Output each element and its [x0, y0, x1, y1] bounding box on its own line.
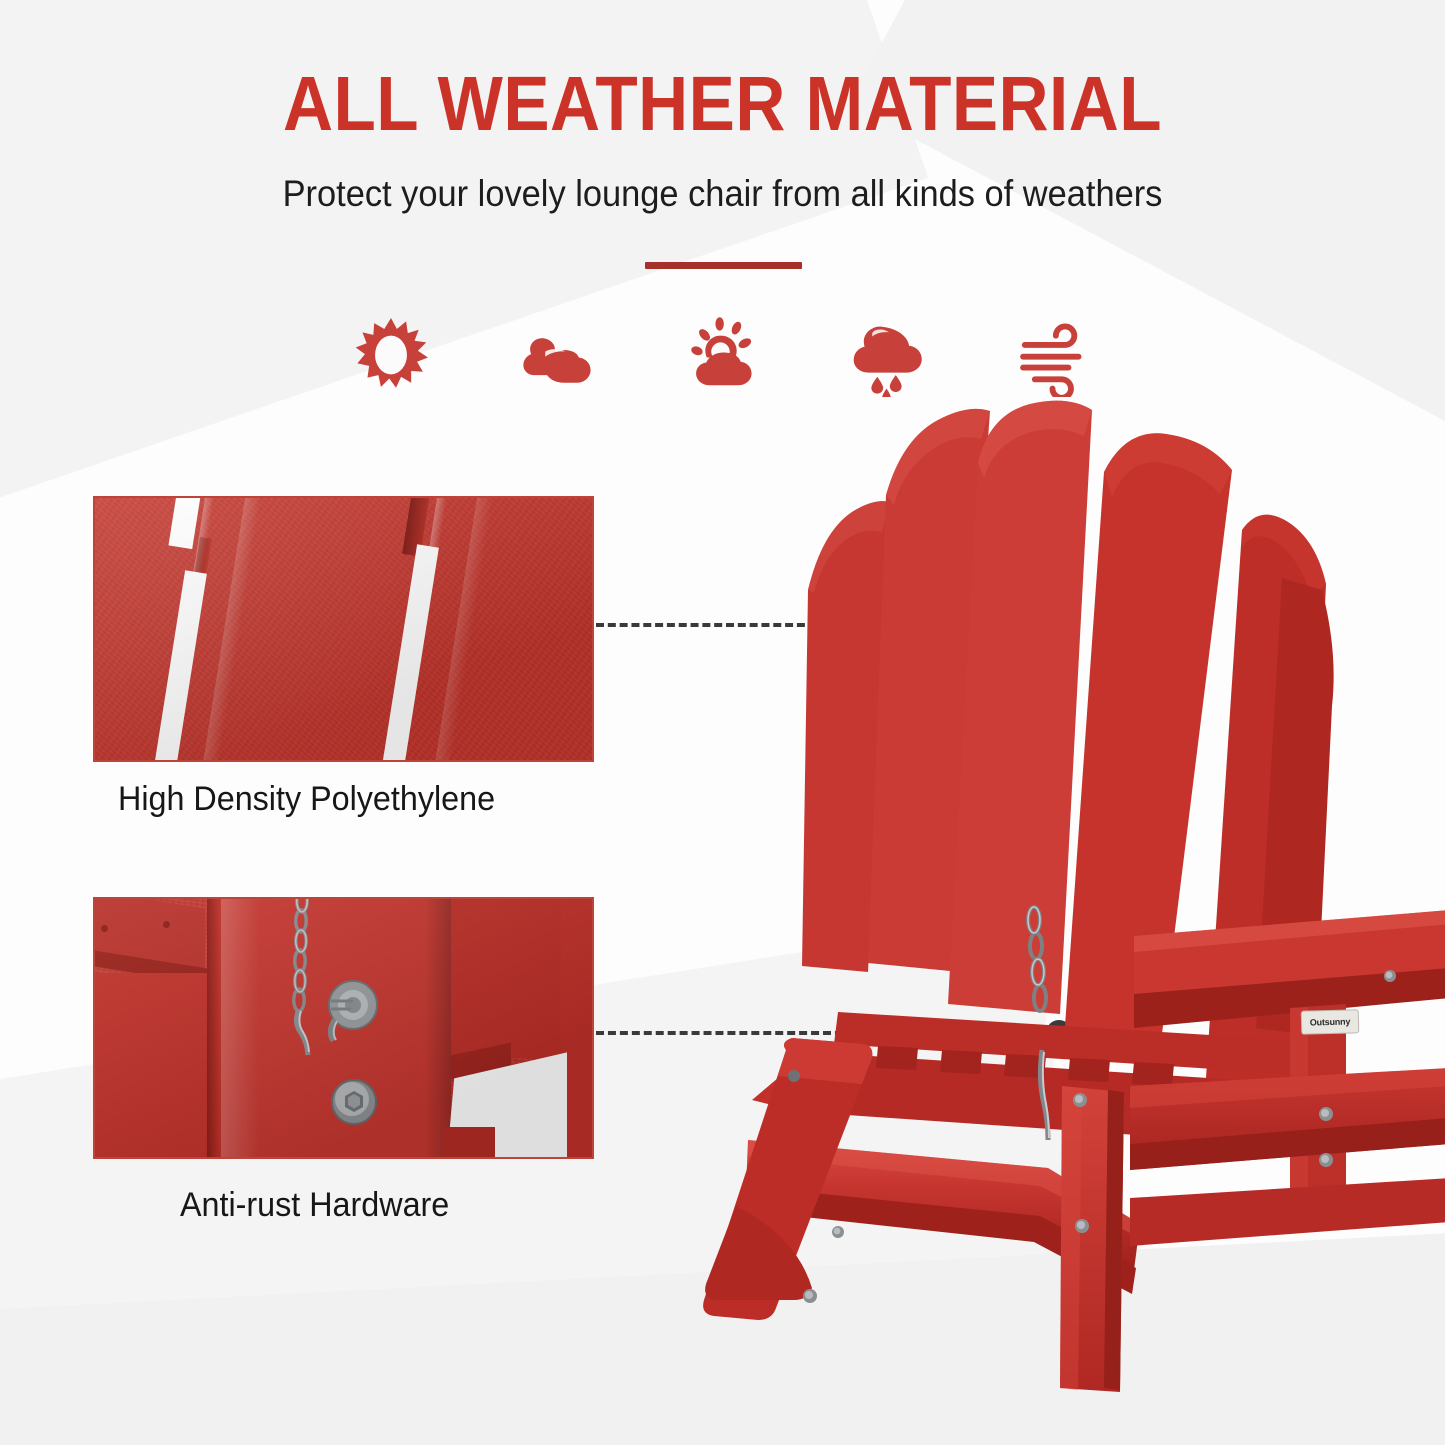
adirondack-chair-image: [690, 400, 1445, 1410]
header: ALL WEATHER MATERIAL Protect your lovely…: [0, 66, 1445, 216]
cloudy-icon: [513, 311, 601, 399]
hardware-detail-photo: [93, 897, 594, 1159]
title-divider: [645, 262, 802, 269]
brand-label: Outsunny: [1301, 1009, 1360, 1035]
page-subtitle: Protect your lovely lounge chair from al…: [51, 173, 1395, 216]
hardware-photo-surface: [95, 899, 592, 1157]
hdpe-shading: [95, 498, 592, 760]
hdpe-detail-photo: [93, 496, 594, 762]
partly-cloudy-icon: [679, 311, 767, 399]
sun-icon: [347, 311, 435, 399]
page-title: ALL WEATHER MATERIAL: [72, 66, 1373, 143]
hardware-shading: [95, 899, 592, 1157]
weather-icon-row: [0, 300, 1445, 410]
rain-icon: [845, 311, 933, 399]
hdpe-caption: High Density Polyethylene: [118, 780, 495, 819]
hardware-caption: Anti-rust Hardware: [180, 1186, 449, 1225]
infographic-canvas: ALL WEATHER MATERIAL Protect your lovely…: [0, 0, 1445, 1445]
wind-icon: [1011, 311, 1099, 399]
hdpe-photo-surface: [95, 498, 592, 760]
